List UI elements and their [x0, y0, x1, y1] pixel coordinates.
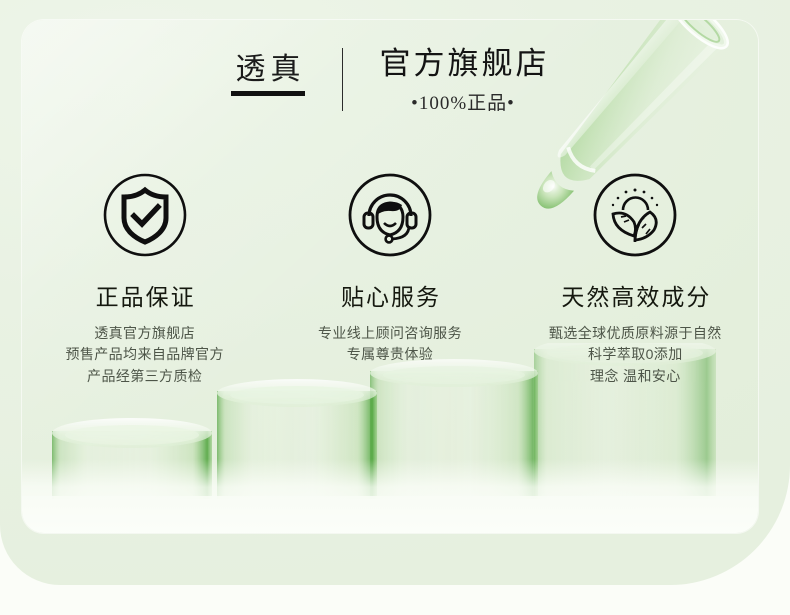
vertical-divider-icon	[342, 48, 343, 111]
feature-item-ingredients: 天然高效成分 甄选全球优质原料源于自然 科学萃取0添加 理念 温和安心	[515, 172, 755, 387]
shield-check-icon	[102, 172, 188, 258]
store-block: 官方旗舰店 •100%正品•	[377, 44, 550, 115]
brand-name: 透真	[231, 54, 306, 86]
feature-title: 天然高效成分	[559, 278, 711, 312]
feature-title: 贴心服务	[339, 278, 441, 312]
feature-item-authenticity: 正品保证 透真官方旗舰店 预售产品均来自品牌官方 产品经第三方质检	[25, 172, 265, 387]
page-title: 官方旗舰店	[377, 46, 550, 83]
brand-underline	[231, 91, 305, 96]
store-header: 透真 官方旗舰店 •100%正品•	[22, 44, 758, 115]
content-card: 透真 官方旗舰店 •100%正品• 正品保证 透真官方旗舰店 预售产品均来自品牌…	[22, 20, 758, 533]
brand-block: 透真	[231, 44, 306, 96]
bottom-haze	[22, 459, 758, 533]
feature-title: 正品保证	[94, 278, 196, 312]
leaf-sun-icon	[592, 172, 678, 258]
feature-item-service: 贴心服务 专业线上顾问咨询服务 专属尊贵体验	[270, 172, 510, 366]
feature-list: 正品保证 透真官方旗舰店 预售产品均来自品牌官方 产品经第三方质检	[22, 172, 758, 387]
feature-description: 专业线上顾问咨询服务 专属尊贵体验	[318, 323, 462, 366]
headset-agent-icon	[347, 172, 433, 258]
feature-description: 甄选全球优质原料源于自然 科学萃取0添加 理念 温和安心	[549, 323, 722, 387]
authenticity-badge: •100%正品•	[411, 88, 515, 115]
feature-description: 透真官方旗舰店 预售产品均来自品牌官方 产品经第三方质检	[65, 323, 223, 387]
